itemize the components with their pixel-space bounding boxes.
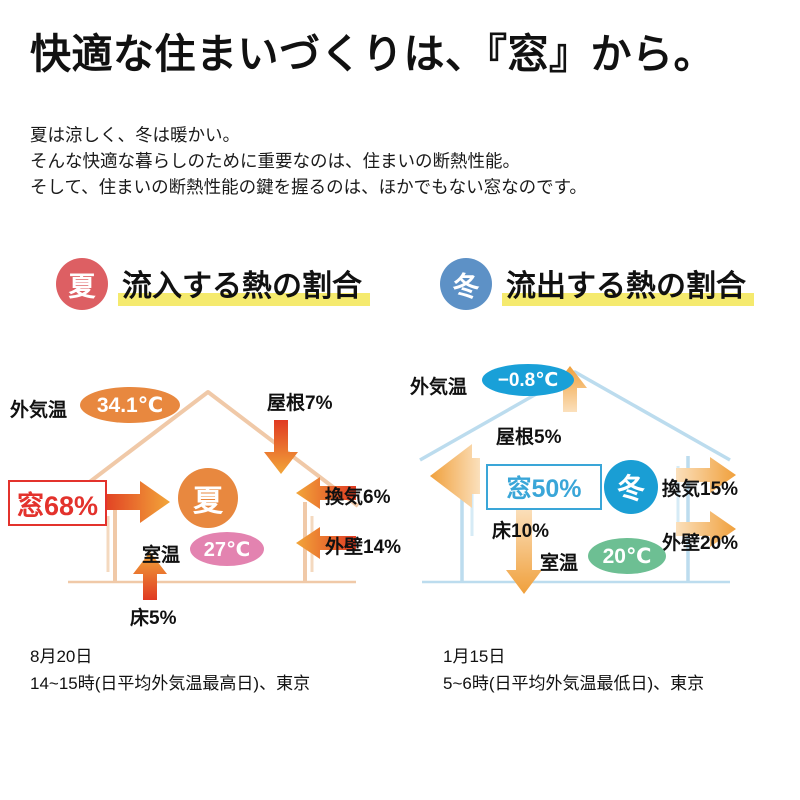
outside-temp-label-winter: 外気温 (410, 372, 467, 399)
section-title-summer: 流入する熱の割合 (118, 261, 366, 307)
ventilation-label-winter: 換気15% (662, 474, 738, 501)
lead-line-2: そんな快適な暮らしのために重要なのは、住まいの断熱性能。 (30, 148, 770, 174)
lead-paragraph: 夏は涼しく、冬は暖かい。 そんな快適な暮らしのために重要なのは、住まいの断熱性能… (30, 122, 770, 200)
caption-summer: 8月20日 14~15時(日平均外気温最高日)、東京 (30, 643, 310, 697)
caption-winter: 1月15日 5~6時(日平均外気温最低日)、東京 (443, 643, 704, 697)
section-title-winter: 流出する熱の割合 (502, 261, 750, 307)
season-badge-winter: 冬 (440, 258, 492, 310)
floor-label-summer: 床5% (130, 603, 176, 630)
house-diagram-summer: 外気温 34.1℃ 屋根7% 換気6% 外壁14% 床5% 窓68% 夏 室温 … (0, 360, 400, 630)
ventilation-label-summer: 換気6% (325, 482, 390, 509)
season-badge-summer: 夏 (56, 258, 108, 310)
section-title-winter-text: 流出する熱の割合 (506, 270, 746, 303)
room-temp-label-winter: 室温 (540, 548, 578, 575)
window-ratio-box-summer: 窓68% (8, 480, 107, 526)
window-ratio-box-winter: 窓50% (486, 464, 602, 510)
roof-inflow-arrow-summer (264, 420, 298, 474)
caption-summer-line-1: 8月20日 (30, 643, 310, 670)
outside-temp-label-summer: 外気温 (10, 395, 67, 422)
outside-temp-pill-summer: 34.1℃ (80, 387, 180, 423)
outerwall-label-winter: 外壁20% (662, 528, 738, 555)
room-temp-pill-summer: 27℃ (190, 532, 264, 566)
house-diagram-winter: 外気温 −0.8℃ 屋根5% 窓50% 冬 換気15% 外壁20% 床10% 室… (400, 360, 800, 630)
season-mark-summer: 夏 (178, 468, 238, 528)
roof-label-summer: 屋根7% (267, 388, 332, 415)
outerwall-label-summer: 外壁14% (325, 532, 401, 559)
section-title-summer-text: 流入する熱の割合 (122, 270, 362, 303)
roof-label-winter: 屋根5% (496, 422, 561, 449)
outside-temp-pill-winter: −0.8℃ (482, 364, 574, 396)
section-heading-summer: 夏 流入する熱の割合 (56, 258, 366, 310)
season-mark-winter: 冬 (604, 460, 658, 514)
room-temp-pill-winter: 20℃ (588, 538, 666, 574)
lead-line-3: そして、住まいの断熱性能の鍵を握るのは、ほかでもない窓なのです。 (30, 174, 770, 200)
lead-line-1: 夏は涼しく、冬は暖かい。 (30, 122, 770, 148)
infographic-page: 快適な住まいづくりは、『窓』から。 夏は涼しく、冬は暖かい。 そんな快適な暮らし… (0, 0, 800, 800)
caption-winter-line-1: 1月15日 (443, 643, 704, 670)
floor-label-winter: 床10% (492, 516, 549, 543)
caption-winter-line-2: 5~6時(日平均外気温最低日)、東京 (443, 670, 704, 697)
section-heading-winter: 冬 流出する熱の割合 (440, 258, 750, 310)
page-title: 快適な住まいづくりは、『窓』から。 (30, 20, 780, 80)
window-inflow-arrow-summer (100, 481, 170, 523)
room-temp-label-summer: 室温 (142, 540, 180, 567)
caption-summer-line-2: 14~15時(日平均外気温最高日)、東京 (30, 670, 310, 697)
